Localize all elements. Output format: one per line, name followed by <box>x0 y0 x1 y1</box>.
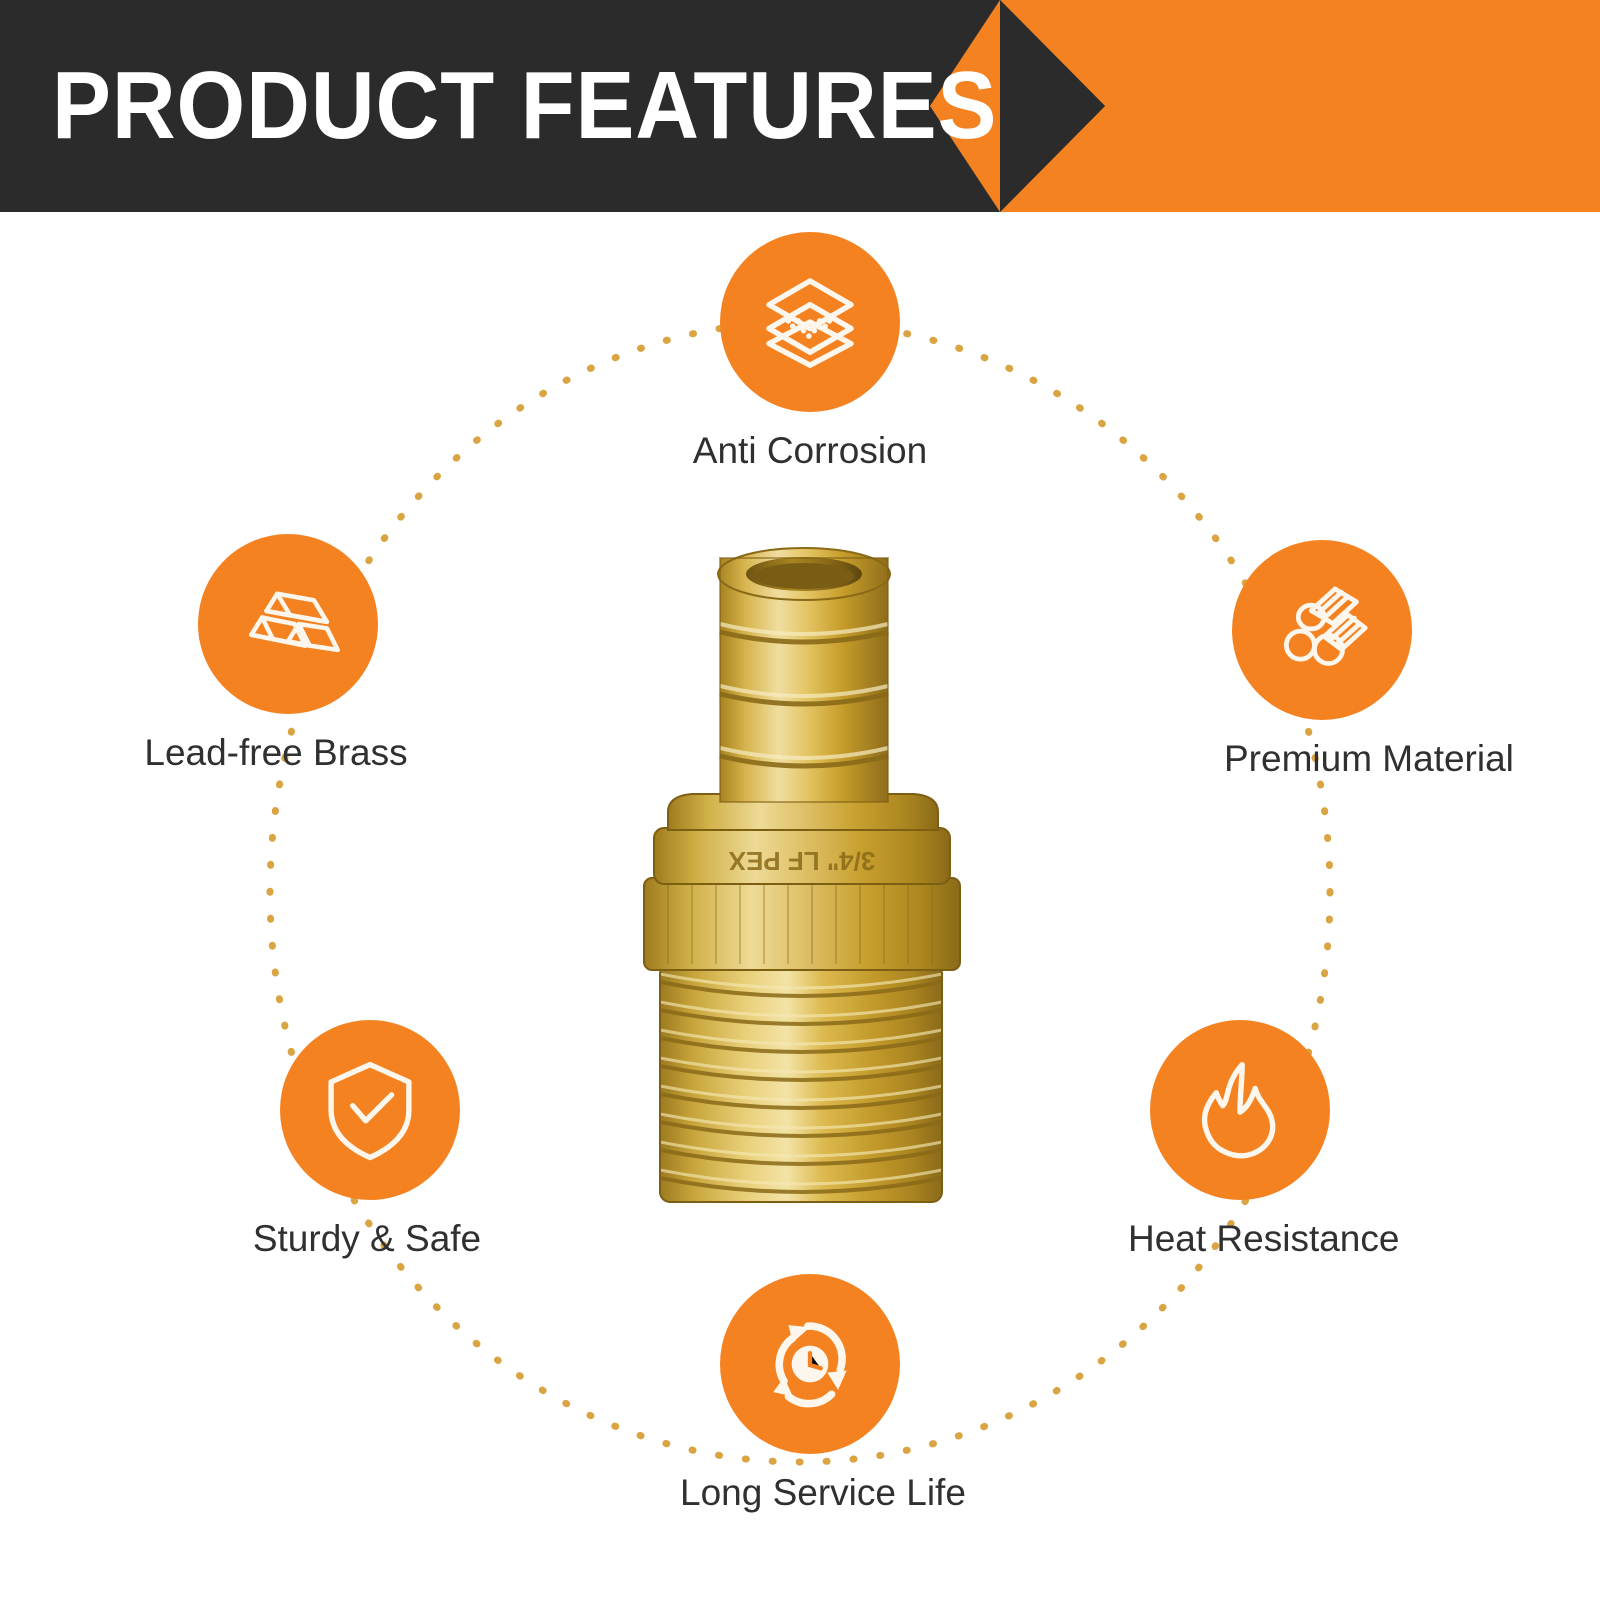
recycle-clock-icon <box>756 1310 864 1418</box>
feature-icon-circle <box>720 1274 900 1454</box>
ingots-icon <box>234 570 342 678</box>
layers-icon <box>756 268 864 376</box>
feature-sturdy-safe[interactable]: Sturdy & Safe <box>240 1020 500 1262</box>
feature-wheel: 3/4" LF PEX <box>0 212 1600 1600</box>
feature-icon-circle <box>198 534 378 714</box>
header-banner: PRODUCT FEATURES <box>0 0 1600 212</box>
feature-icon-circle <box>720 232 900 412</box>
product-engraving-text: 3/4" LF PEX <box>728 846 875 876</box>
feature-heat-resistance[interactable]: Heat Resistance <box>1110 1020 1370 1262</box>
shield-check-icon <box>316 1056 424 1164</box>
product-engraved-band: 3/4" LF PEX <box>654 828 950 884</box>
product-barb-end <box>718 548 890 802</box>
product-hex-collar <box>644 878 960 970</box>
flame-icon <box>1186 1056 1294 1164</box>
product-photo: 3/4" LF PEX <box>608 512 998 1212</box>
feature-lead-free-brass[interactable]: Lead-free Brass <box>158 534 418 776</box>
feature-label: Anti Corrosion <box>680 428 940 474</box>
feature-icon-circle <box>280 1020 460 1200</box>
feature-icon-circle <box>1232 540 1412 720</box>
feature-label: Heat Resistance <box>1128 1216 1370 1262</box>
feature-anti-corrosion[interactable]: Anti Corrosion <box>680 232 940 474</box>
feature-long-service-life[interactable]: Long Service Life <box>680 1274 940 1516</box>
feature-label: Premium Material <box>1224 736 1452 782</box>
feature-label: Sturdy & Safe <box>234 1216 500 1262</box>
feature-icon-circle <box>1150 1020 1330 1200</box>
feature-premium-material[interactable]: Premium Material <box>1192 540 1452 782</box>
pipes-stack-icon <box>1268 576 1376 684</box>
feature-label: Long Service Life <box>680 1470 940 1516</box>
page-title: PRODUCT FEATURES <box>52 48 825 164</box>
feature-label: Lead-free Brass <box>134 730 418 776</box>
product-threaded-end <box>660 964 942 1202</box>
